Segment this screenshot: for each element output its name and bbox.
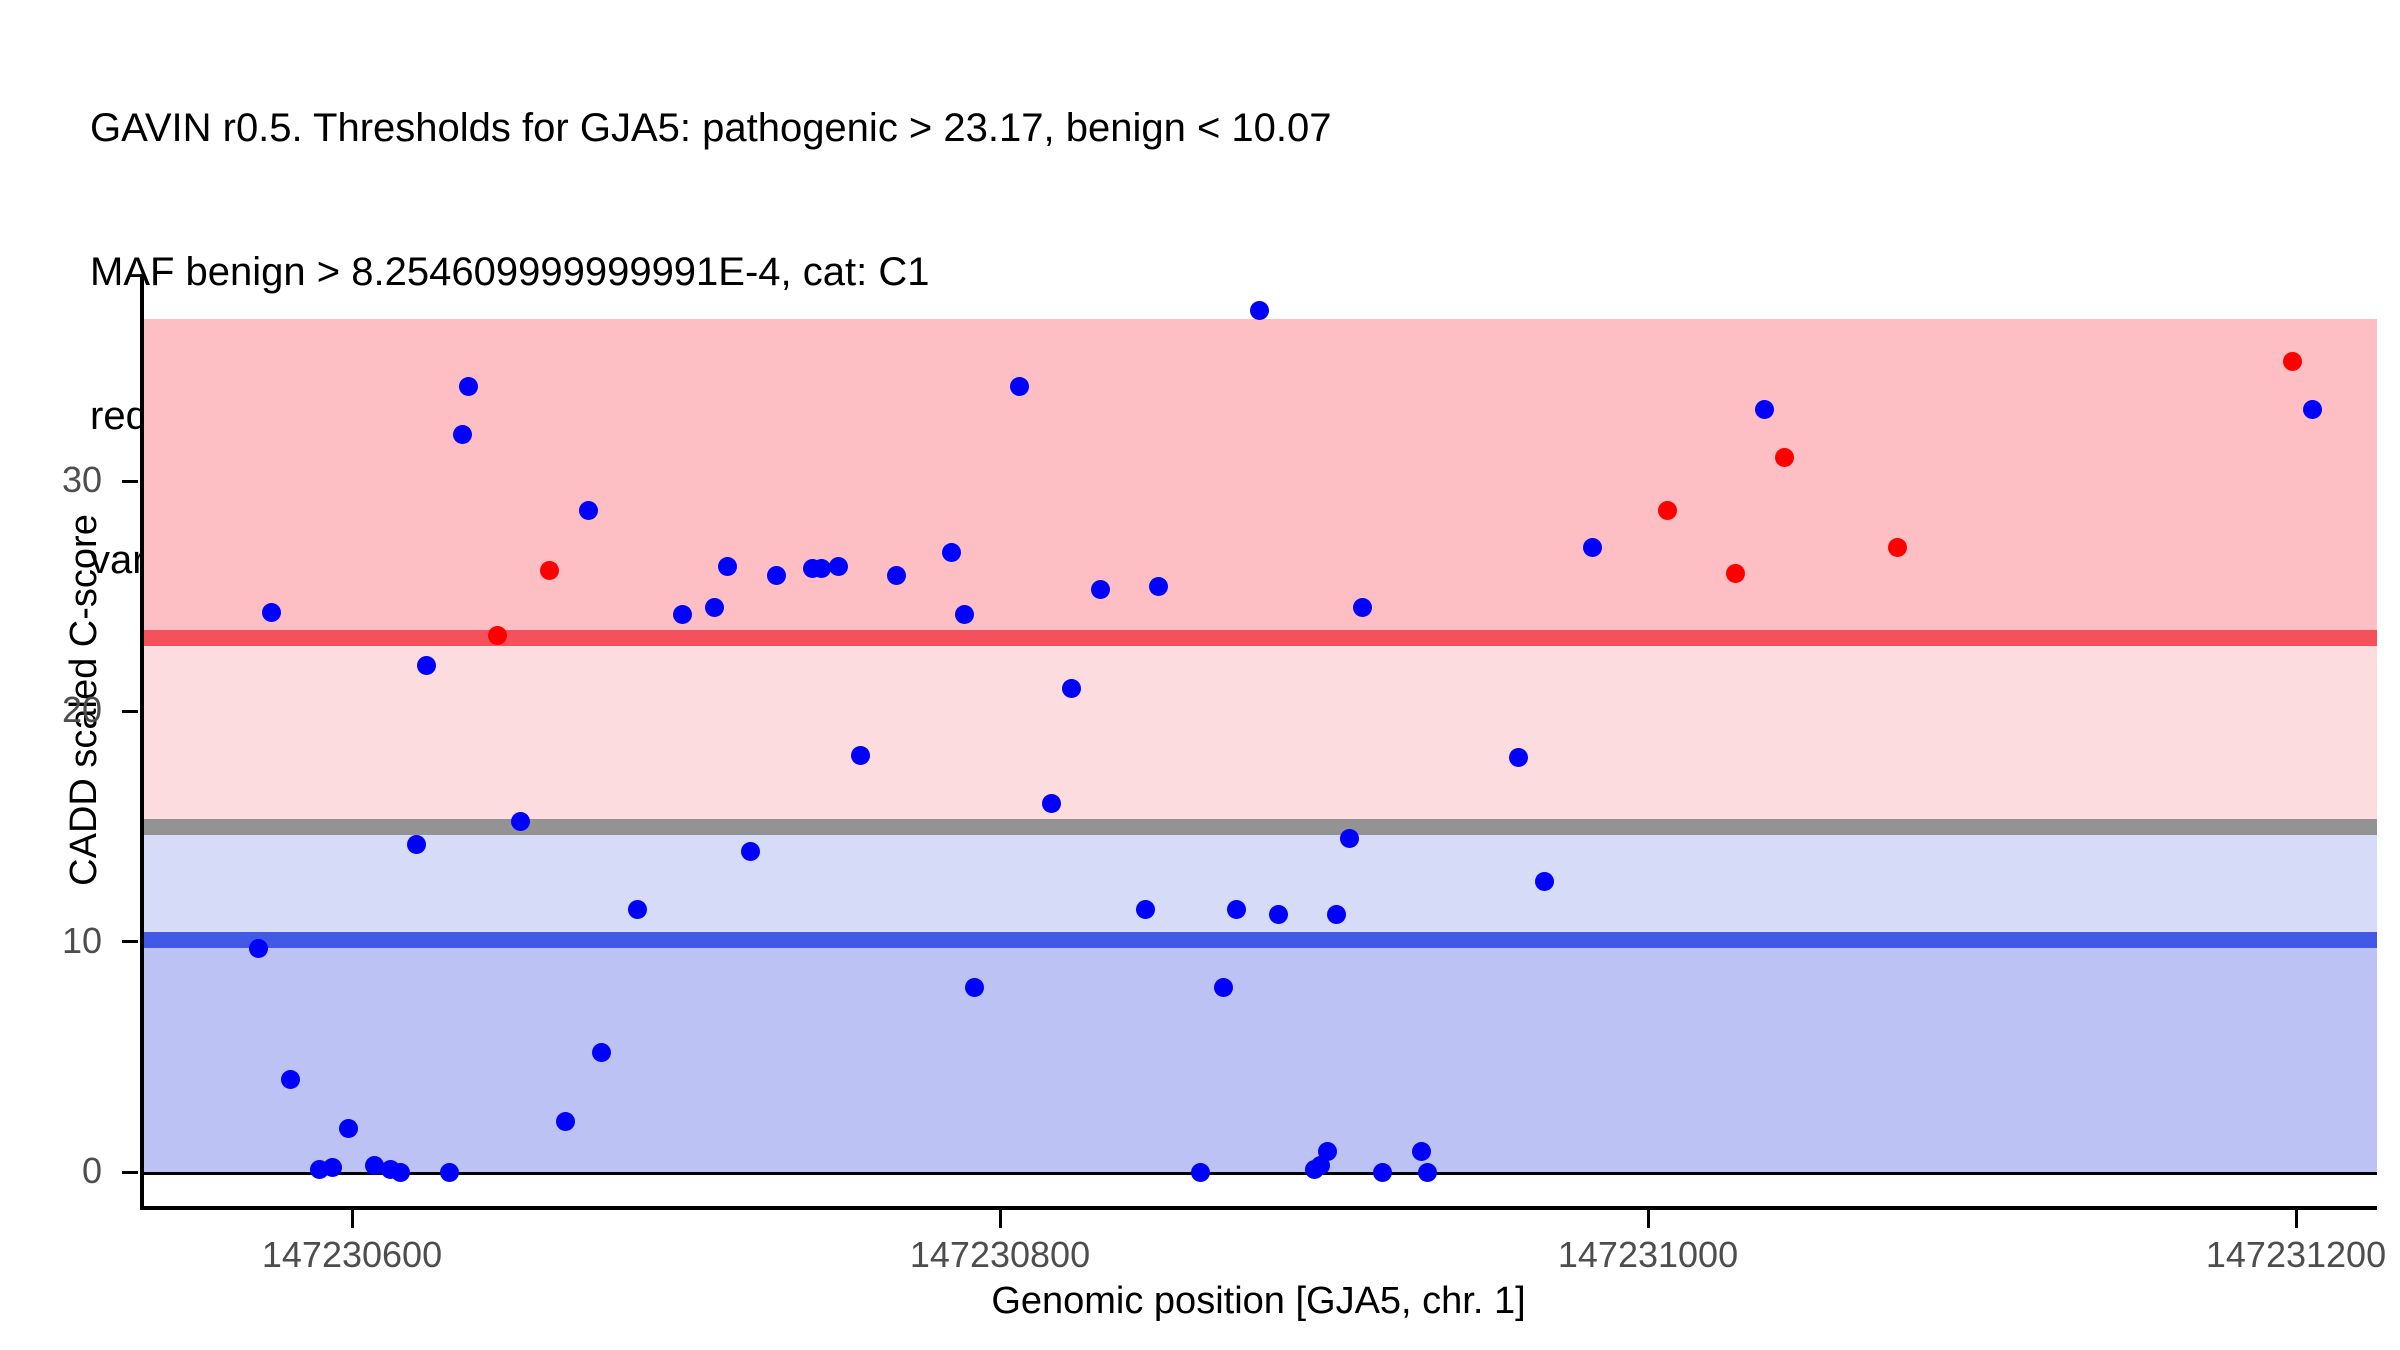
gnomad-point bbox=[1327, 905, 1346, 924]
x-tick-label: 147230800 bbox=[850, 1234, 1150, 1276]
x-tick-mark bbox=[1647, 1210, 1650, 1228]
title-line-1: GAVIN r0.5. Thresholds for GJA5: pathoge… bbox=[90, 104, 2370, 152]
gnomad-point bbox=[1010, 377, 1029, 396]
gnomad-point bbox=[1318, 1142, 1337, 1161]
gnomad-point bbox=[942, 543, 961, 562]
gnomad-point bbox=[1535, 872, 1554, 891]
zero-baseline bbox=[144, 1172, 2377, 1175]
gnomad-point bbox=[955, 605, 974, 624]
pathogenic-threshold-line bbox=[144, 630, 2377, 646]
gnomad-point bbox=[440, 1163, 459, 1182]
y-tick-mark bbox=[122, 940, 138, 943]
gnomad-point bbox=[887, 566, 906, 585]
gnomad-point bbox=[339, 1119, 358, 1138]
gnomad-point bbox=[1091, 580, 1110, 599]
y-tick-label: 30 bbox=[0, 459, 102, 501]
x-tick-label: 147231200 bbox=[2146, 1234, 2400, 1276]
x-tick-mark bbox=[2295, 1210, 2298, 1228]
gnomad-point bbox=[1062, 679, 1081, 698]
plot-panel bbox=[140, 276, 2377, 1210]
benign-threshold-line bbox=[144, 932, 2377, 948]
gnomad-point bbox=[1509, 748, 1528, 767]
gnomad-point bbox=[1373, 1163, 1392, 1182]
x-tick-label: 147231000 bbox=[1498, 1234, 1798, 1276]
y-tick-label: 10 bbox=[0, 920, 102, 962]
gnomad-point bbox=[1418, 1163, 1437, 1182]
gnomad-point bbox=[417, 656, 436, 675]
gnomad-point bbox=[556, 1112, 575, 1131]
gnomad-point bbox=[829, 557, 848, 576]
y-tick-label: 0 bbox=[0, 1150, 102, 1192]
gavin-cadd-scatter-plot: GAVIN r0.5. Thresholds for GJA5: pathoge… bbox=[0, 0, 2400, 1350]
gnomad-point bbox=[718, 557, 737, 576]
fallback-threshold-line bbox=[144, 819, 2377, 835]
gnomad-point bbox=[1227, 900, 1246, 919]
pathogenic-point bbox=[1726, 564, 1745, 583]
gnomad-point bbox=[851, 746, 870, 765]
gnomad-point bbox=[391, 1163, 410, 1182]
gnomad-point bbox=[1412, 1142, 1431, 1161]
gnomad-point bbox=[628, 900, 647, 919]
uncertain-upper-band bbox=[144, 646, 2377, 834]
pathogenic-point bbox=[1775, 448, 1794, 467]
y-tick-mark bbox=[122, 1171, 138, 1174]
gnomad-point bbox=[965, 978, 984, 997]
gnomad-point bbox=[592, 1043, 611, 1062]
x-axis-title: Genomic position [GJA5, chr. 1] bbox=[140, 1280, 2377, 1323]
pathogenic-point bbox=[488, 626, 507, 645]
gnomad-point bbox=[673, 605, 692, 624]
gnomad-point bbox=[1191, 1163, 1210, 1182]
pathogenic-band bbox=[144, 319, 2377, 646]
gnomad-point bbox=[1250, 301, 1269, 320]
x-tick-label: 147230600 bbox=[202, 1234, 502, 1276]
gnomad-point bbox=[453, 425, 472, 444]
gnomad-point bbox=[323, 1158, 342, 1177]
y-tick-label: 20 bbox=[0, 689, 102, 731]
y-tick-mark bbox=[122, 710, 138, 713]
gnomad-point bbox=[1340, 829, 1359, 848]
gnomad-point bbox=[1269, 905, 1288, 924]
y-tick-mark bbox=[122, 480, 138, 483]
x-tick-mark bbox=[999, 1210, 1002, 1228]
gnomad-point bbox=[2303, 400, 2322, 419]
x-tick-mark bbox=[351, 1210, 354, 1228]
pathogenic-point bbox=[2283, 352, 2302, 371]
gnomad-point bbox=[262, 603, 281, 622]
gnomad-point bbox=[767, 566, 786, 585]
gnomad-point bbox=[249, 939, 268, 958]
uncertain-lower-band bbox=[144, 835, 2377, 949]
benign-band bbox=[144, 948, 2377, 1172]
